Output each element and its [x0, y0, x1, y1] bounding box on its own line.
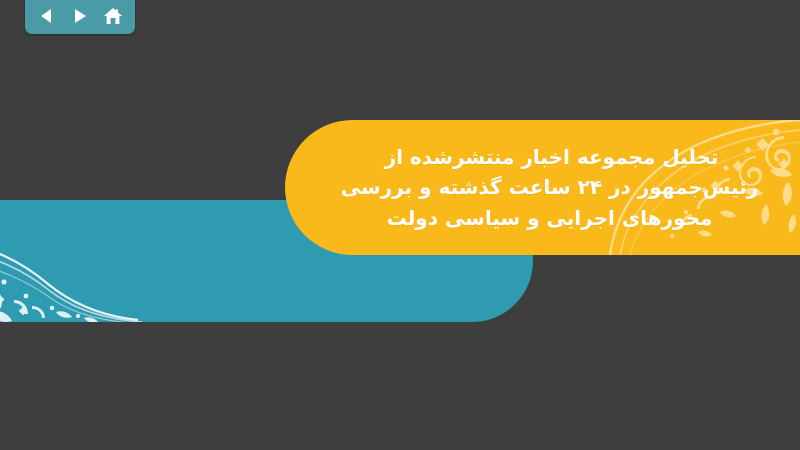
slide-canvas: تحلیل مجموعه اخبار منتشرشده از رئیس‌جمهو…: [0, 0, 800, 450]
previous-slide-button[interactable]: [36, 5, 58, 27]
title-line-1: تحلیل مجموعه اخبار منتشرشده از: [385, 142, 719, 172]
home-icon: [103, 6, 123, 26]
title-text-block: تحلیل مجموعه اخبار منتشرشده از رئیس‌جمهو…: [285, 120, 800, 255]
title-banner: تحلیل مجموعه اخبار منتشرشده از رئیس‌جمهو…: [285, 120, 800, 255]
triangle-right-icon: [71, 7, 89, 25]
title-line-2: رئیس‌جمهور در ۲۴ ساعت گذشته و بررسی: [341, 172, 758, 202]
next-slide-button[interactable]: [69, 5, 91, 27]
home-slide-button[interactable]: [102, 5, 124, 27]
title-line-3: محورهای اجرایی و سیاسی دولت: [387, 203, 713, 233]
navigation-toolbar: [25, 0, 135, 34]
teal-arabesque-ornament: [0, 200, 190, 322]
triangle-left-icon: [38, 7, 56, 25]
